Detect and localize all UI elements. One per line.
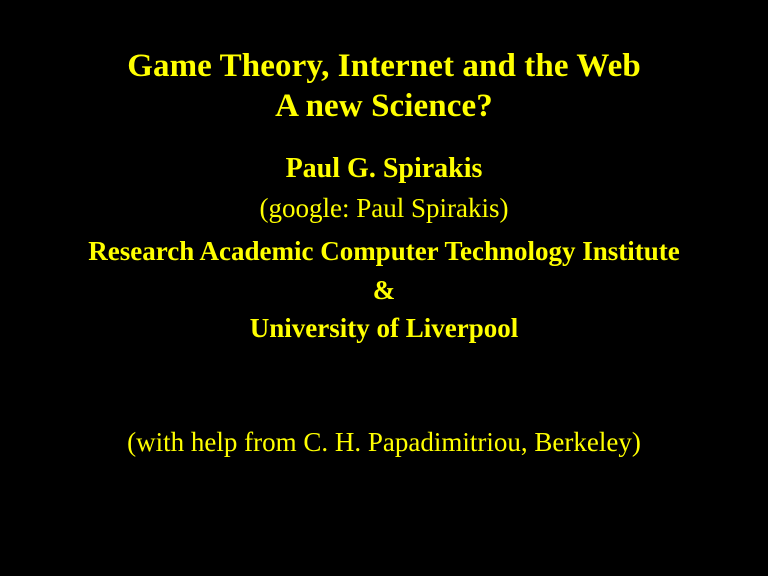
affiliation-institute: Research Academic Computer Technology In… <box>0 238 768 265</box>
affiliation-conjunction: & <box>0 277 768 304</box>
acknowledgement-credit: (with help from C. H. Papadimitriou, Ber… <box>0 429 768 456</box>
author-name: Paul G. Spirakis <box>0 155 768 183</box>
affiliation-university: University of Liverpool <box>0 315 768 342</box>
author-search-hint: (google: Paul Spirakis) <box>0 195 768 222</box>
presentation-slide: Game Theory, Internet and the Web A new … <box>0 0 768 576</box>
slide-title-line-1: Game Theory, Internet and the Web <box>0 50 768 83</box>
slide-title-line-2: A new Science? <box>0 90 768 123</box>
